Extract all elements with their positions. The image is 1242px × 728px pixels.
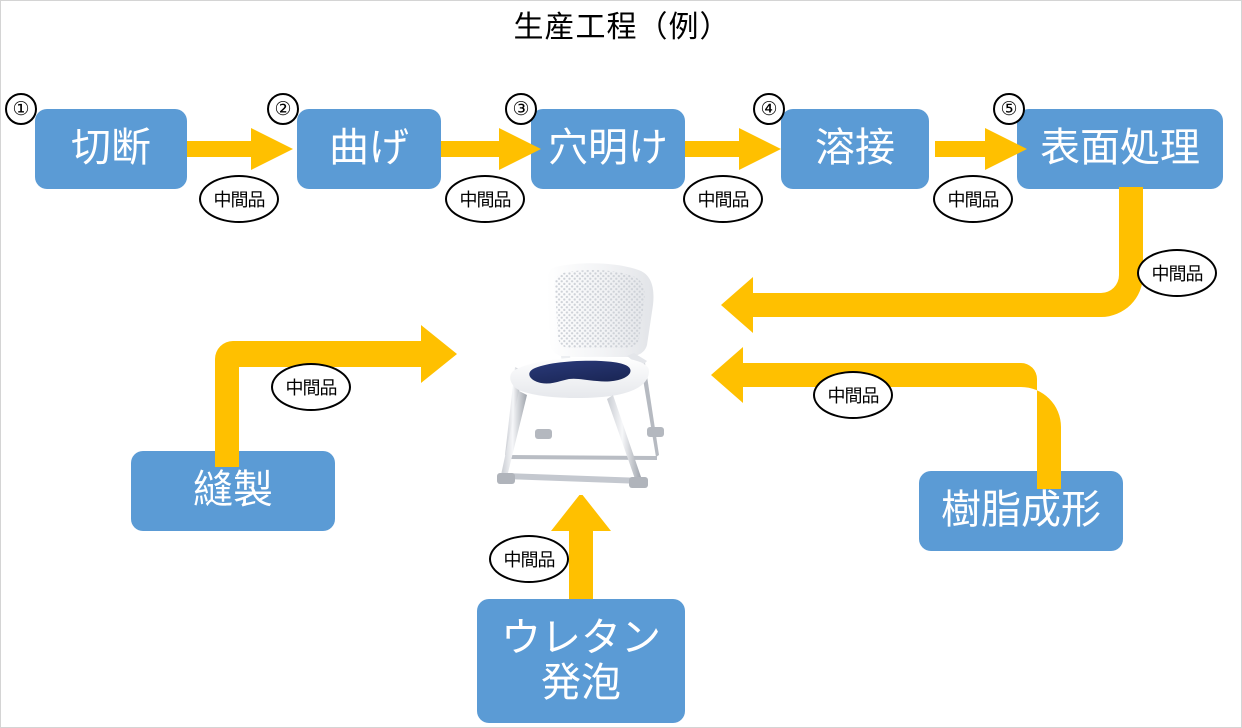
- process-box-welding[interactable]: 溶接: [781, 109, 929, 189]
- arrow-surface-treatment-to-assembly: [701, 187, 1143, 327]
- edge-label-intermediate-resin: 中間品: [813, 371, 893, 419]
- edge-label-intermediate-3: 中間品: [683, 175, 763, 223]
- arrow-step2-to-step3: [441, 127, 545, 171]
- edge-label-intermediate-urethane: 中間品: [489, 535, 569, 583]
- edge-label-intermediate-2: 中間品: [445, 175, 525, 223]
- process-box-bending[interactable]: 曲げ: [297, 109, 441, 189]
- edge-label-intermediate-1: 中間品: [199, 175, 279, 223]
- step-number-4: ④: [753, 93, 785, 125]
- process-box-cutting[interactable]: 切断: [35, 109, 187, 189]
- arrow-resin-molding-to-assembly: [701, 339, 1061, 489]
- chair-illustration: [477, 259, 695, 495]
- process-box-urethane-foaming[interactable]: ウレタン 発泡: [477, 599, 685, 723]
- step-number-2: ②: [267, 93, 299, 125]
- page-title: 生産工程（例）: [1, 9, 1242, 47]
- process-box-surface-treatment[interactable]: 表面処理: [1017, 109, 1223, 189]
- step-number-5: ⑤: [993, 93, 1025, 125]
- arrow-step1-to-step2: [187, 127, 297, 171]
- process-box-hole-drilling[interactable]: 穴明け: [531, 109, 685, 189]
- arrow-step4-to-step5: [935, 127, 1031, 171]
- diagram-canvas: 生産工程（例） 切断 ① 曲げ ② 穴明け ③ 溶接 ④ 表面処理 ⑤ 縫製 ウ…: [0, 0, 1242, 728]
- edge-label-intermediate-4: 中間品: [933, 175, 1013, 223]
- arrow-step3-to-step4: [685, 127, 785, 171]
- edge-label-intermediate-surface-treatment: 中間品: [1137, 249, 1217, 297]
- chair-product-image: [477, 259, 695, 495]
- step-number-3: ③: [505, 93, 537, 125]
- step-number-1: ①: [5, 93, 37, 125]
- edge-label-intermediate-sewing: 中間品: [271, 363, 351, 411]
